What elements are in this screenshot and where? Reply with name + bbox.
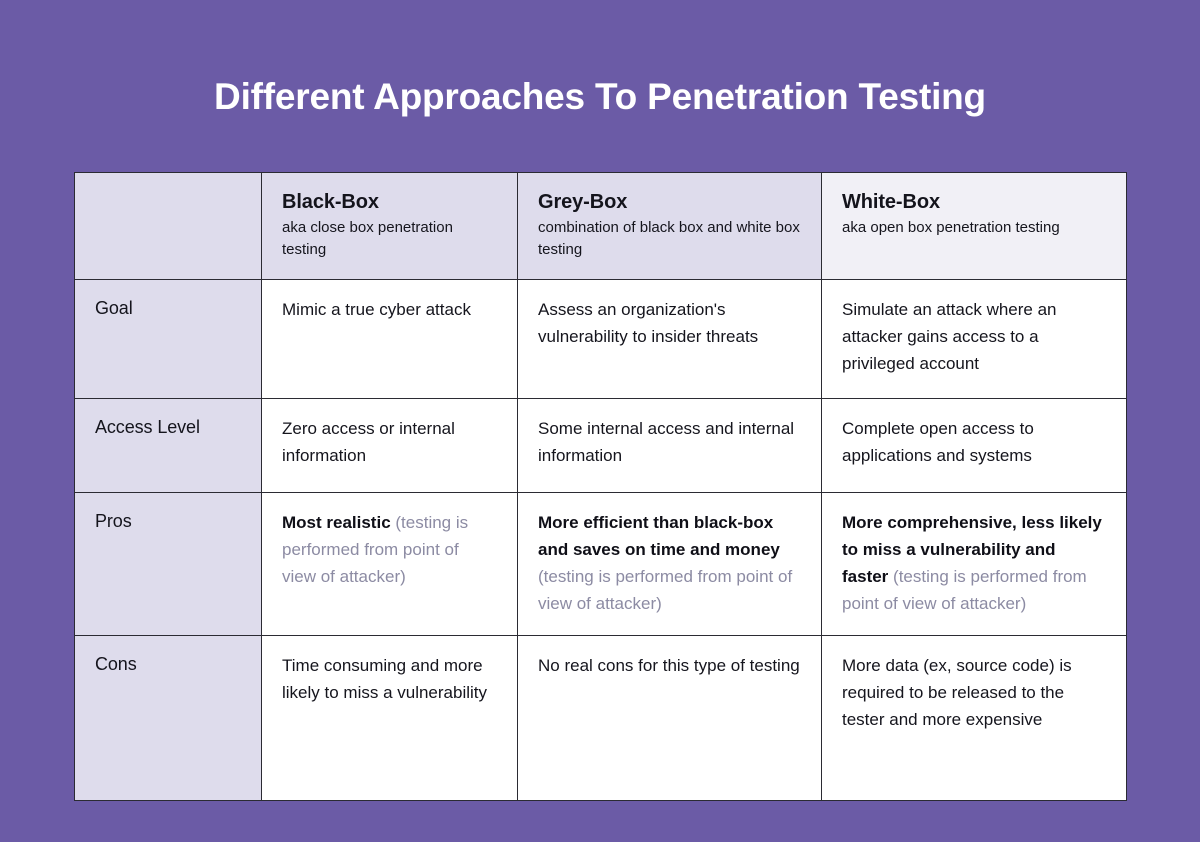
table-body: Goal Mimic a true cyber attack Assess an… [75, 280, 1127, 801]
cell-plain-text: Simulate an attack where an attacker gai… [842, 300, 1057, 373]
cell-plain-text: Assess an organization's vulnerability t… [538, 300, 758, 346]
penetration-testing-comparison-table: Black-Box aka close box penetration test… [74, 172, 1127, 801]
cell-plain-text: Time consuming and more likely to miss a… [282, 656, 487, 702]
column-header-white-box-subtitle: aka open box penetration testing [842, 217, 1106, 239]
row-label-access-level: Access Level [75, 399, 262, 493]
cell-strong-text: Most realistic [282, 513, 391, 532]
cell-goal-white-box: Simulate an attack where an attacker gai… [822, 280, 1127, 399]
column-header-black-box-subtitle: aka close box penetration testing [282, 217, 497, 261]
header-corner-cell [75, 173, 262, 280]
cell-muted-text: (testing is performed from point of view… [538, 567, 792, 613]
cell-cons-grey-box: No real cons for this type of testing [518, 636, 822, 801]
column-header-black-box-title: Black-Box [282, 189, 497, 215]
column-header-grey-box-subtitle: combination of black box and white box t… [538, 217, 801, 261]
row-label-goal: Goal [75, 280, 262, 399]
cell-pros-grey-box: More efficient than black-box and saves … [518, 493, 822, 636]
cell-plain-text: Complete open access to applications and… [842, 419, 1034, 465]
cell-pros-white-box: More comprehensive, less likely to miss … [822, 493, 1127, 636]
comparison-table-wrapper: Black-Box aka close box penetration test… [74, 172, 1126, 801]
cell-plain-text: No real cons for this type of testing [538, 656, 800, 675]
cell-access-level-white-box: Complete open access to applications and… [822, 399, 1127, 493]
cell-plain-text: Zero access or internal information [282, 419, 455, 465]
row-label-pros: Pros [75, 493, 262, 636]
table-row: Cons Time consuming and more likely to m… [75, 636, 1127, 801]
table-row: Goal Mimic a true cyber attack Assess an… [75, 280, 1127, 399]
cell-goal-grey-box: Assess an organization's vulnerability t… [518, 280, 822, 399]
column-header-white-box: White-Box aka open box penetration testi… [822, 173, 1127, 280]
table-row: Access Level Zero access or internal inf… [75, 399, 1127, 493]
table-header-row: Black-Box aka close box penetration test… [75, 173, 1127, 280]
cell-strong-text: More efficient than black-box and saves … [538, 513, 780, 559]
cell-goal-black-box: Mimic a true cyber attack [262, 280, 518, 399]
cell-pros-black-box: Most realistic (testing is performed fro… [262, 493, 518, 636]
cell-cons-black-box: Time consuming and more likely to miss a… [262, 636, 518, 801]
page-title: Different Approaches To Penetration Test… [0, 74, 1200, 120]
cell-plain-text: More data (ex, source code) is required … [842, 656, 1072, 729]
infographic-page: Different Approaches To Penetration Test… [0, 0, 1200, 842]
cell-plain-text: Mimic a true cyber attack [282, 300, 471, 319]
column-header-white-box-title: White-Box [842, 189, 1106, 215]
cell-access-level-black-box: Zero access or internal information [262, 399, 518, 493]
column-header-grey-box: Grey-Box combination of black box and wh… [518, 173, 822, 280]
table-row: Pros Most realistic (testing is performe… [75, 493, 1127, 636]
row-label-cons: Cons [75, 636, 262, 801]
cell-cons-white-box: More data (ex, source code) is required … [822, 636, 1127, 801]
table-header: Black-Box aka close box penetration test… [75, 173, 1127, 280]
column-header-black-box: Black-Box aka close box penetration test… [262, 173, 518, 280]
column-header-grey-box-title: Grey-Box [538, 189, 801, 215]
cell-access-level-grey-box: Some internal access and internal inform… [518, 399, 822, 493]
cell-plain-text: Some internal access and internal inform… [538, 419, 794, 465]
